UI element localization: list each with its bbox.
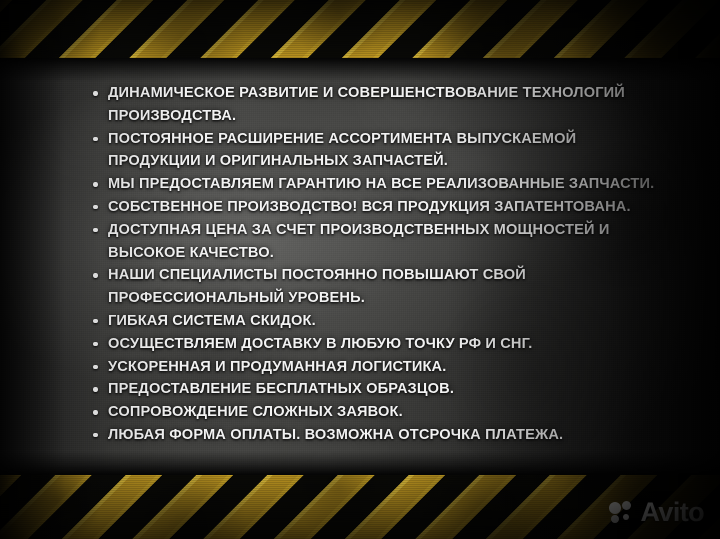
list-item: ГИБКАЯ СИСТЕМА СКИДОК. <box>92 310 664 333</box>
list-item: ПРЕДОСТАВЛЕНИЕ БЕСПЛАТНЫХ ОБРАЗЦОВ. <box>92 378 664 401</box>
list-item: СОБСТВЕННОЕ ПРОИЗВОДСТВО! ВСЯ ПРОДУКЦИЯ … <box>92 196 664 219</box>
list-item: ОСУЩЕСТВЛЯЕМ ДОСТАВКУ В ЛЮБУЮ ТОЧКУ РФ И… <box>92 333 664 356</box>
list-item: ПОСТОЯННОЕ РАСШИРЕНИЕ АССОРТИМЕНТА ВЫПУС… <box>92 128 664 174</box>
avito-dots-icon <box>609 501 635 525</box>
band-bottom-shadow <box>0 451 720 475</box>
list-item: ЛЮБАЯ ФОРМА ОПЛАТЫ. ВОЗМОЖНА ОТСРОЧКА ПЛ… <box>92 424 664 447</box>
band-top-shadow <box>0 58 720 82</box>
avito-watermark: Avito <box>609 499 705 526</box>
hazard-darkfade-top <box>0 0 720 58</box>
avito-wordmark: Avito <box>641 499 705 526</box>
benefits-list: ДИНАМИЧЕСКОЕ РАЗВИТИЕ И СОВЕРШЕНСТВОВАНИ… <box>92 82 664 447</box>
list-item: МЫ ПРЕДОСТАВЛЯЕМ ГАРАНТИЮ НА ВСЕ РЕАЛИЗО… <box>92 173 664 196</box>
list-item: СОПРОВОЖДЕНИЕ СЛОЖНЫХ ЗАЯВОК. <box>92 401 664 424</box>
hazard-stripe-band-top <box>0 0 720 58</box>
poster-canvas: ДИНАМИЧЕСКОЕ РАЗВИТИЕ И СОВЕРШЕНСТВОВАНИ… <box>0 0 720 539</box>
list-item: ДОСТУПНАЯ ЦЕНА ЗА СЧЕТ ПРОИЗВОДСТВЕННЫХ … <box>92 219 664 265</box>
list-item: ДИНАМИЧЕСКОЕ РАЗВИТИЕ И СОВЕРШЕНСТВОВАНИ… <box>92 82 664 128</box>
list-item: НАШИ СПЕЦИАЛИСТЫ ПОСТОЯННО ПОВЫШАЮТ СВОЙ… <box>92 264 664 310</box>
list-item: УСКОРЕННАЯ И ПРОДУМАННАЯ ЛОГИСТИКА. <box>92 356 664 379</box>
